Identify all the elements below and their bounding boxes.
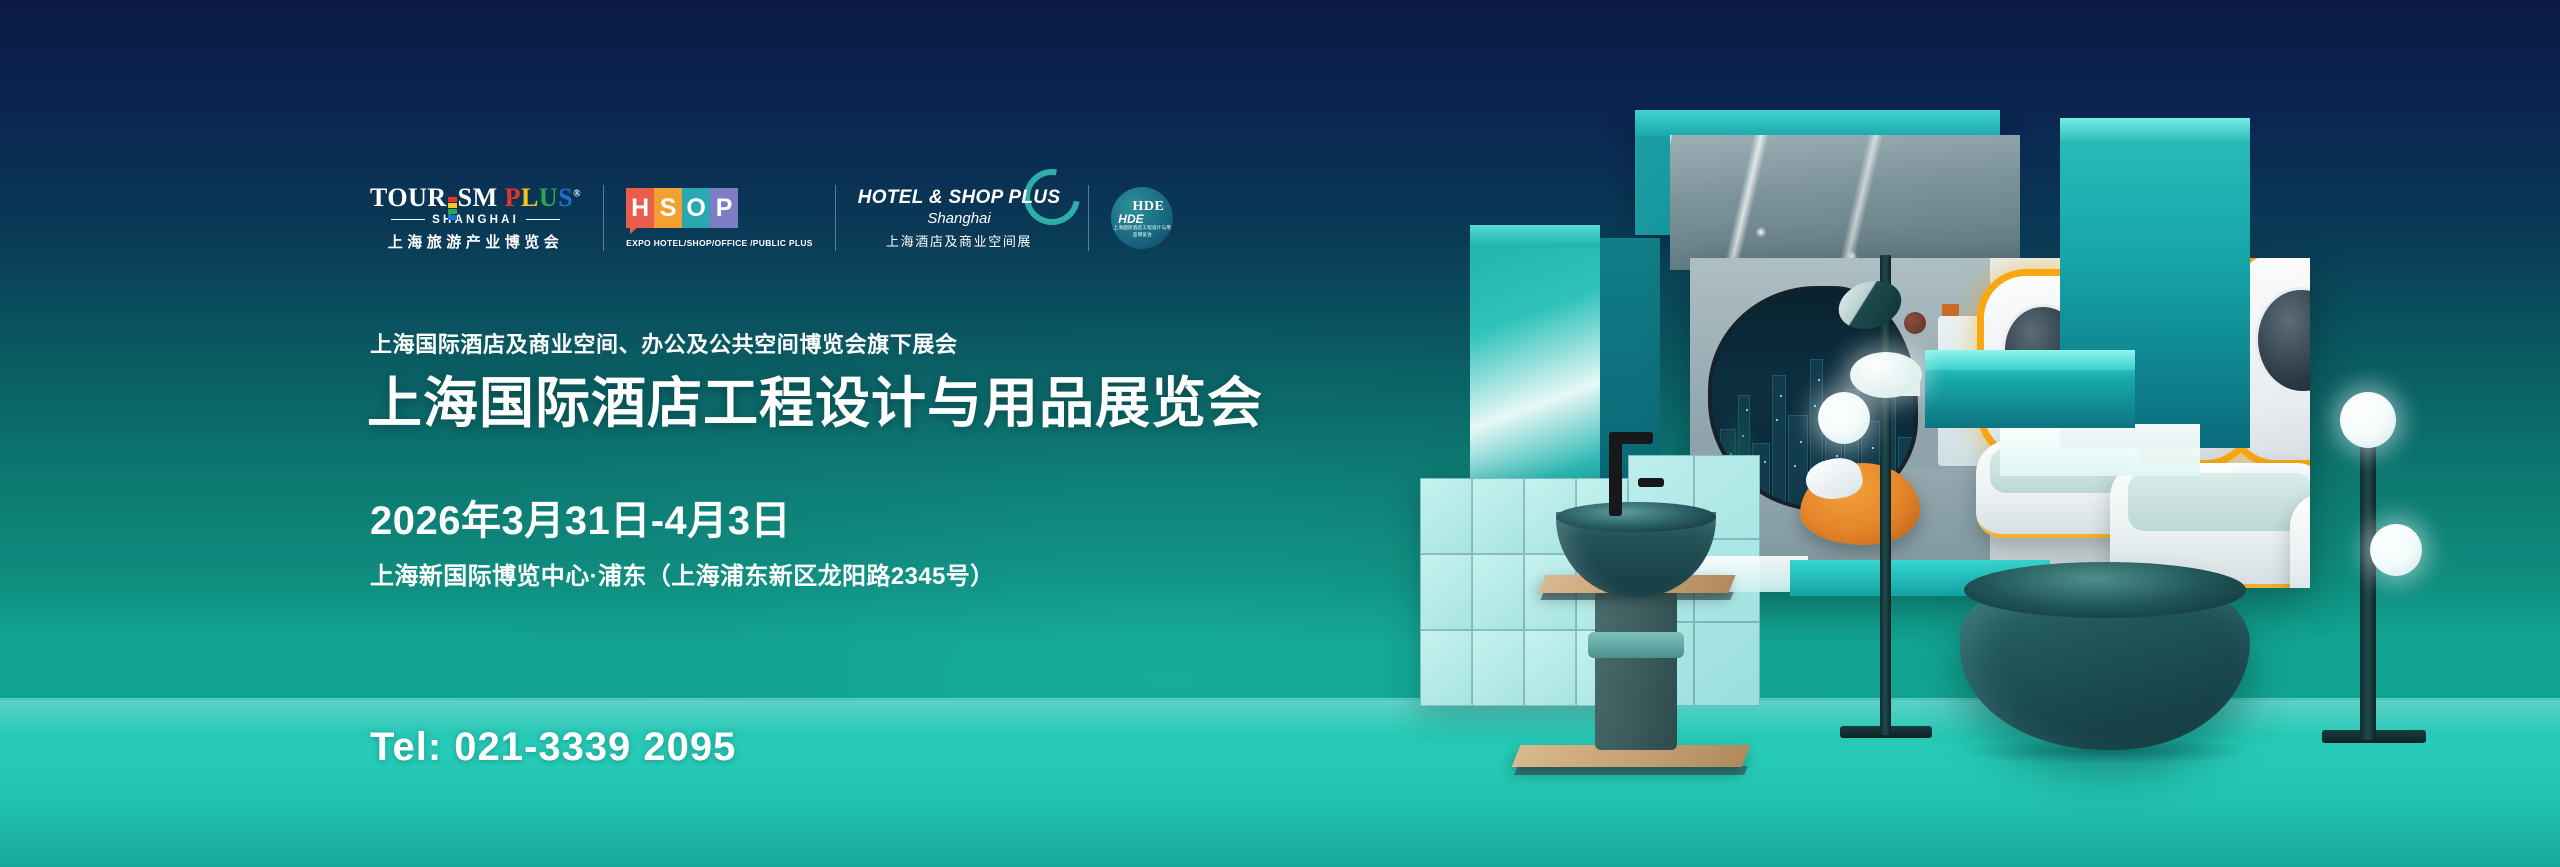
hde-wordmark: HDE	[1118, 212, 1143, 226]
banner-main-title: 上海国际酒店工程设计与用品展览会	[367, 358, 1263, 438]
logo-row: TOURSM PLUS® SHANGHAI 上海旅游产业博览会 H S O P …	[370, 172, 1173, 264]
bathtub-rim	[1964, 562, 2246, 618]
logo-hotel-shop-plus[interactable]: HOTEL & SHOP PLUS Shanghai 上海酒店及商业空间展	[858, 187, 1067, 250]
lamp-globe	[1850, 352, 1922, 398]
hde-chinese: 上海国际酒店工程设计与用品博览会	[1111, 225, 1173, 238]
tourism-plus-city-row: SHANGHAI	[370, 214, 581, 226]
tourism-word: TOUR	[370, 183, 447, 212]
wall-sign-chip	[1942, 304, 1959, 316]
hsop-subtitle: EXPO HOTEL/SHOP/OFFICE /PUBLIC PLUS	[626, 238, 813, 248]
teal-column-top	[1470, 225, 1600, 247]
banner-sub-title: 上海国际酒店及商业空间、办公及公共空间博览会旗下展会	[370, 327, 958, 359]
faucet-spout	[1638, 478, 1664, 487]
basin-pedestal-collar	[1588, 632, 1684, 658]
tourism-plus-city: SHANGHAI	[432, 214, 519, 226]
lamp-globe	[2370, 524, 2422, 576]
teal-wall-right-top	[2060, 118, 2250, 144]
hotel-shop-plus-line1: HOTEL & SHOP PLUS	[858, 187, 1061, 209]
logo-divider	[603, 185, 604, 251]
banner-telephone: Tel: 021-3339 2095	[370, 725, 736, 770]
basin-pedestal	[1595, 590, 1677, 750]
orange-bean-bag-chair	[1800, 463, 1920, 545]
plus-letter-p: P	[505, 183, 521, 212]
lamp-globe	[2340, 392, 2396, 448]
wall-disc-decor	[1904, 312, 1926, 334]
registered-mark-icon: ®	[573, 188, 581, 199]
floor-lamp-pole	[2360, 440, 2376, 740]
basin-base-shadow	[1514, 766, 1748, 775]
banner-date: 2026年3月31日-4月3日	[370, 488, 791, 546]
logo-divider	[1088, 185, 1089, 251]
hsop-letter-s: S	[654, 188, 682, 228]
logo-hde[interactable]: HDE HDE 上海国际酒店工程设计与用品博览会	[1111, 187, 1173, 249]
hotel-shop-plus-line2: Shanghai	[858, 210, 1061, 227]
hsop-letter-h: H	[626, 188, 654, 228]
tourism-plus-chinese: 上海旅游产业博览会	[370, 231, 581, 252]
lamp-globe	[1818, 392, 1870, 444]
tourism-plus-wordmark: TOURSM PLUS®	[370, 185, 581, 211]
tourism-word-sm: SM	[458, 183, 498, 212]
hotel-interior-collage	[1360, 0, 2560, 867]
exhibition-banner: TOURSM PLUS® SHANGHAI 上海旅游产业博览会 H S O P …	[0, 0, 2560, 867]
hsop-letter-o: O	[682, 188, 710, 228]
hsop-letter-p: P	[710, 188, 738, 228]
logo-hsop[interactable]: H S O P EXPO HOTEL/SHOP/OFFICE /PUBLIC P…	[626, 188, 813, 248]
faucet-handle	[1609, 432, 1653, 444]
hotel-shop-plus-line3: 上海酒店及商业空间展	[858, 231, 1061, 250]
teal-slab-top-edge	[1635, 110, 2000, 136]
faucet-body	[1609, 432, 1622, 516]
plus-letter-l: L	[521, 183, 539, 212]
rule-right	[526, 219, 560, 220]
teal-ledge-top	[1925, 350, 2135, 370]
banner-venue: 上海新国际博览中心·浦东（上海浦东新区龙阳路2345号）	[370, 556, 995, 591]
logo-divider	[835, 185, 836, 251]
logo-tourism-plus-shanghai[interactable]: TOURSM PLUS® SHANGHAI 上海旅游产业博览会	[370, 185, 581, 252]
plus-letter-s: S	[558, 183, 573, 212]
ceiling-photo-panel	[1670, 135, 2020, 270]
plus-letter-u: U	[539, 183, 558, 212]
washbasin-rim	[1556, 502, 1716, 532]
white-light-strip	[2000, 424, 2200, 476]
banner-text-column: TOURSM PLUS® SHANGHAI 上海旅游产业博览会 H S O P …	[370, 0, 1370, 867]
floor-lamp-pole	[1880, 255, 1891, 735]
hsop-tiles: H S O P	[626, 188, 813, 228]
rule-left	[391, 219, 425, 220]
